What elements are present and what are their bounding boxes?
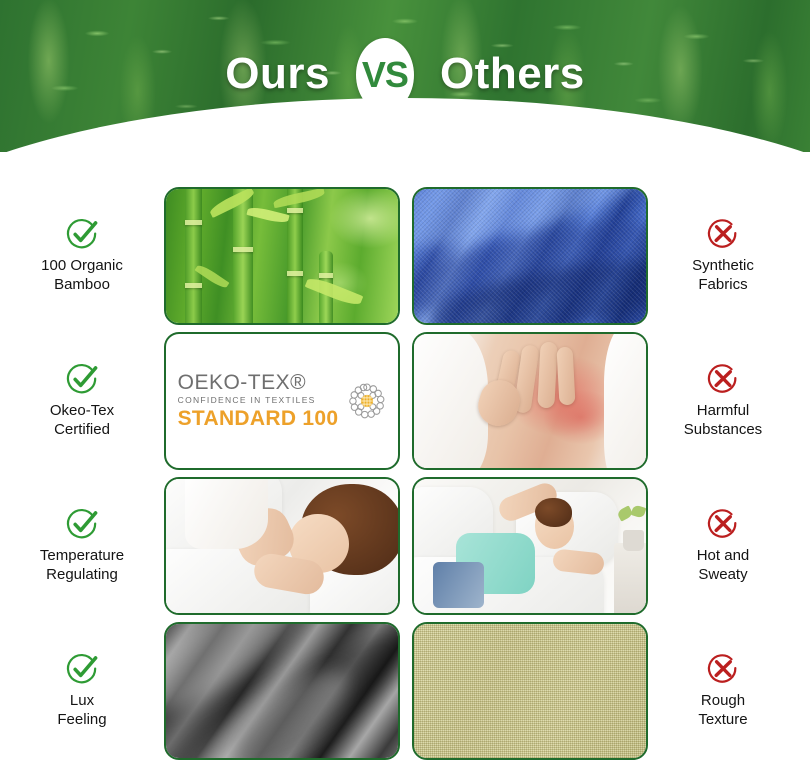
ours-label-cell: Okeo-Tex Certified <box>0 362 164 440</box>
oeko-tex-flower-emblem <box>348 382 386 420</box>
oeko-tex-text-block: OEKO-TEX® CONFIDENCE IN TEXTILES STANDAR… <box>178 372 339 430</box>
x-circle-icon <box>706 362 740 396</box>
x-circle-icon <box>706 217 740 251</box>
ours-label-text: Lux Feeling <box>57 692 106 730</box>
check-circle-icon <box>65 507 99 541</box>
ours-label-cell: 100 Organic Bamboo <box>0 217 164 295</box>
others-image-panel <box>412 477 648 615</box>
comparison-row: Temperature Regulating <box>0 477 810 615</box>
ours-label-text: Temperature Regulating <box>40 547 124 585</box>
others-label-cell: Rough Texture <box>648 652 798 730</box>
ours-title: Ours <box>225 52 330 96</box>
others-label-cell: Harmful Substances <box>648 362 798 440</box>
ours-image-panel: OEKO-TEX® CONFIDENCE IN TEXTILES STANDAR… <box>164 332 400 470</box>
ours-image-panel <box>164 622 400 760</box>
check-circle-icon <box>65 362 99 396</box>
oeko-tex-wordmark: OEKO-TEX® <box>178 372 307 394</box>
others-label-cell: Synthetic Fabrics <box>648 217 798 295</box>
ours-label-text: 100 Organic Bamboo <box>41 257 123 295</box>
ours-label-text: Okeo-Tex Certified <box>50 402 114 440</box>
ours-image-panel <box>164 477 400 615</box>
oeko-tex-standard-100-logo: OEKO-TEX® CONFIDENCE IN TEXTILES STANDAR… <box>178 372 387 430</box>
others-label-text: Synthetic Fabrics <box>692 257 754 295</box>
ours-label-cell: Temperature Regulating <box>0 507 164 585</box>
comparison-row: Lux Feeling Rough Texture <box>0 622 810 760</box>
ours-image-panel <box>164 187 400 325</box>
check-circle-icon <box>65 217 99 251</box>
blue-synthetic-fabric-photo <box>414 189 646 323</box>
others-label-text: Harmful Substances <box>684 402 762 440</box>
others-label-text: Rough Texture <box>698 692 747 730</box>
header-banner: Ours VS Others <box>0 0 810 152</box>
coarse-khaki-burlap-texture-photo <box>414 624 646 758</box>
others-title: Others <box>440 52 585 96</box>
others-label-text: Hot and Sweaty <box>697 547 750 585</box>
check-circle-icon <box>65 652 99 686</box>
comparison-grid: 100 Organic Bamboo <box>0 160 810 754</box>
others-label-cell: Hot and Sweaty <box>648 507 798 585</box>
green-bamboo-stalks-photo <box>166 189 398 323</box>
fabric-weave-texture <box>414 189 646 323</box>
x-circle-icon <box>706 507 740 541</box>
others-image-panel <box>412 622 648 760</box>
woman-sleeping-peacefully-photo <box>166 479 398 613</box>
ours-label-cell: Lux Feeling <box>0 652 164 730</box>
man-hot-uncomfortable-in-bed-photo <box>414 479 646 613</box>
comparison-row: 100 Organic Bamboo <box>0 187 810 325</box>
dark-gray-silky-satin-fabric-photo <box>166 624 398 758</box>
others-image-panel <box>412 332 648 470</box>
oeko-tex-standard-label: STANDARD 100 <box>178 408 339 430</box>
irritated-red-skin-scratching-photo <box>414 334 646 468</box>
oeko-tex-tagline: CONFIDENCE IN TEXTILES <box>178 394 316 408</box>
comparison-row: Okeo-Tex Certified OEKO-TEX® CONFIDENCE … <box>0 332 810 470</box>
x-circle-icon <box>706 652 740 686</box>
vs-badge-label: VS <box>362 57 408 93</box>
others-image-panel <box>412 187 648 325</box>
